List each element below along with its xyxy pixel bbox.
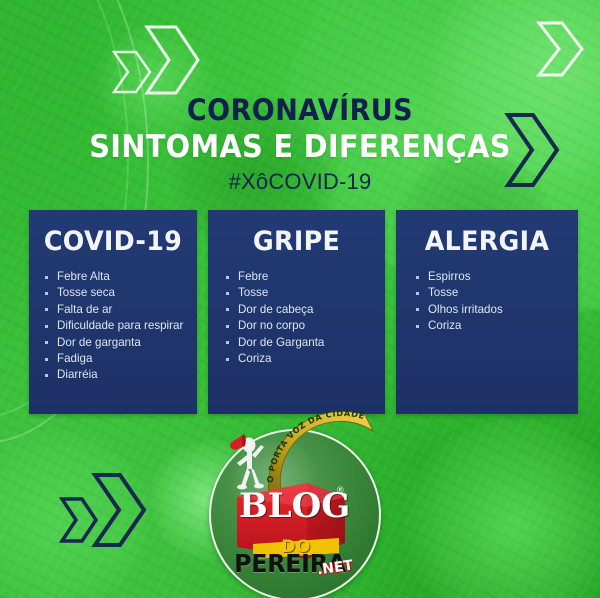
list-item: Espirros	[414, 269, 572, 285]
list-item: Falta de ar	[43, 302, 191, 318]
symptom-list-gripe: Febre Tosse Dor de cabeça Dor no corpo D…	[208, 269, 385, 367]
list-item: Diarréia	[43, 367, 191, 383]
chevron-bottom-left-large-icon	[90, 470, 150, 550]
panel-title-covid-19: COVID-19	[34, 210, 192, 255]
logo-registered-mark: ®	[337, 485, 344, 495]
list-item: Dor de garganta	[43, 335, 191, 351]
panel-gripe: GRIPE Febre Tosse Dor de cabeça Dor no c…	[208, 210, 385, 414]
hashtag-xo-covid: #XôCOVID-19	[0, 171, 600, 193]
list-item: Dificuldade para respirar	[43, 318, 191, 334]
symptom-panels: COVID-19 Febre Alta Tosse seca Falta de …	[0, 210, 600, 414]
list-item: Dor de cabeça	[224, 302, 379, 318]
panel-covid-19: COVID-19 Febre Alta Tosse seca Falta de …	[29, 210, 197, 414]
logo-brand-text: BLOG	[239, 489, 347, 523]
list-item: Olhos irritados	[414, 302, 572, 318]
list-item: Febre	[224, 269, 379, 285]
blog-do-pereira-logo[interactable]: O PORTA VOZ DA CIDADE!	[209, 429, 379, 598]
list-item: Fadiga	[43, 351, 191, 367]
list-item: Coriza	[224, 351, 379, 367]
symptom-list-covid-19: Febre Alta Tosse seca Falta de ar Dificu…	[29, 269, 197, 384]
list-item: Coriza	[414, 318, 572, 334]
list-item: Febre Alta	[43, 269, 191, 285]
panel-title-alergia: ALERGIA	[401, 210, 572, 255]
symptom-list-alergia: Espirros Tosse Olhos irritados Coriza	[396, 269, 578, 335]
list-item: Tosse	[414, 285, 572, 301]
title-sintomas-e-diferencas: SINTOMAS E DIFERENÇAS	[21, 132, 579, 163]
headline-block: CORONAVÍRUS SINTOMAS E DIFERENÇAS #XôCOV…	[0, 96, 600, 193]
chevron-top-right-icon	[534, 18, 588, 80]
panel-alergia: ALERGIA Espirros Tosse Olhos irritados C…	[396, 210, 578, 414]
title-coronavirus: CORONAVÍRUS	[21, 96, 579, 125]
poster-canvas: CORONAVÍRUS SINTOMAS E DIFERENÇAS #XôCOV…	[0, 0, 600, 598]
list-item: Tosse seca	[43, 285, 191, 301]
panel-title-gripe: GRIPE	[213, 210, 379, 255]
list-item: Dor no corpo	[224, 318, 379, 334]
list-item: Dor de Garganta	[224, 335, 379, 351]
chevron-top-left-large-icon	[142, 22, 204, 98]
list-item: Tosse	[224, 285, 379, 301]
